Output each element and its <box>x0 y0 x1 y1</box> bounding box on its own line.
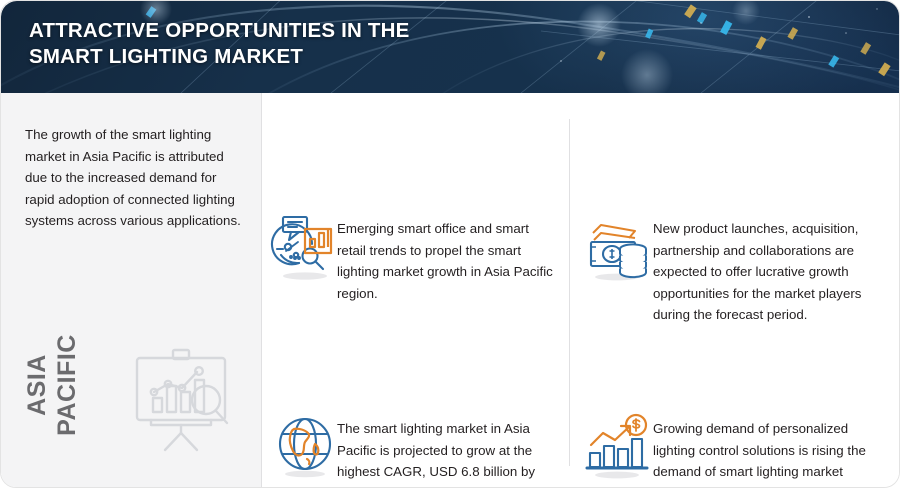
presentation-board-analytics-icon <box>121 336 241 456</box>
header-banner: ATTRACTIVE OPPORTUNITIES IN THE SMART LI… <box>1 1 900 93</box>
page-title: ATTRACTIVE OPPORTUNITIES IN THE SMART LI… <box>29 18 589 70</box>
money-banknote-coins-icon <box>581 211 653 283</box>
insight-text: The smart lighting market in Asia Pacifi… <box>337 418 563 488</box>
left-summary-panel: The growth of the smart lighting market … <box>1 93 261 488</box>
region-label: ASIA PACIFIC <box>22 320 82 450</box>
divider-right <box>569 119 570 466</box>
growth-bar-chart-coin-icon <box>581 411 653 483</box>
infographic-root: ATTRACTIVE OPPORTUNITIES IN THE SMART LI… <box>0 0 900 488</box>
content-area: The growth of the smart lighting market … <box>1 93 900 488</box>
intro-paragraph: The growth of the smart lighting market … <box>25 124 243 232</box>
insight-text: Growing demand of personalized lighting … <box>653 418 875 483</box>
insight-text: Emerging smart office and smart retail t… <box>337 218 559 304</box>
globe-icon <box>269 411 341 483</box>
market-research-chart-icon <box>269 211 341 283</box>
insight-text: New product launches, acquisition, partn… <box>653 218 879 326</box>
divider-left <box>261 93 262 488</box>
